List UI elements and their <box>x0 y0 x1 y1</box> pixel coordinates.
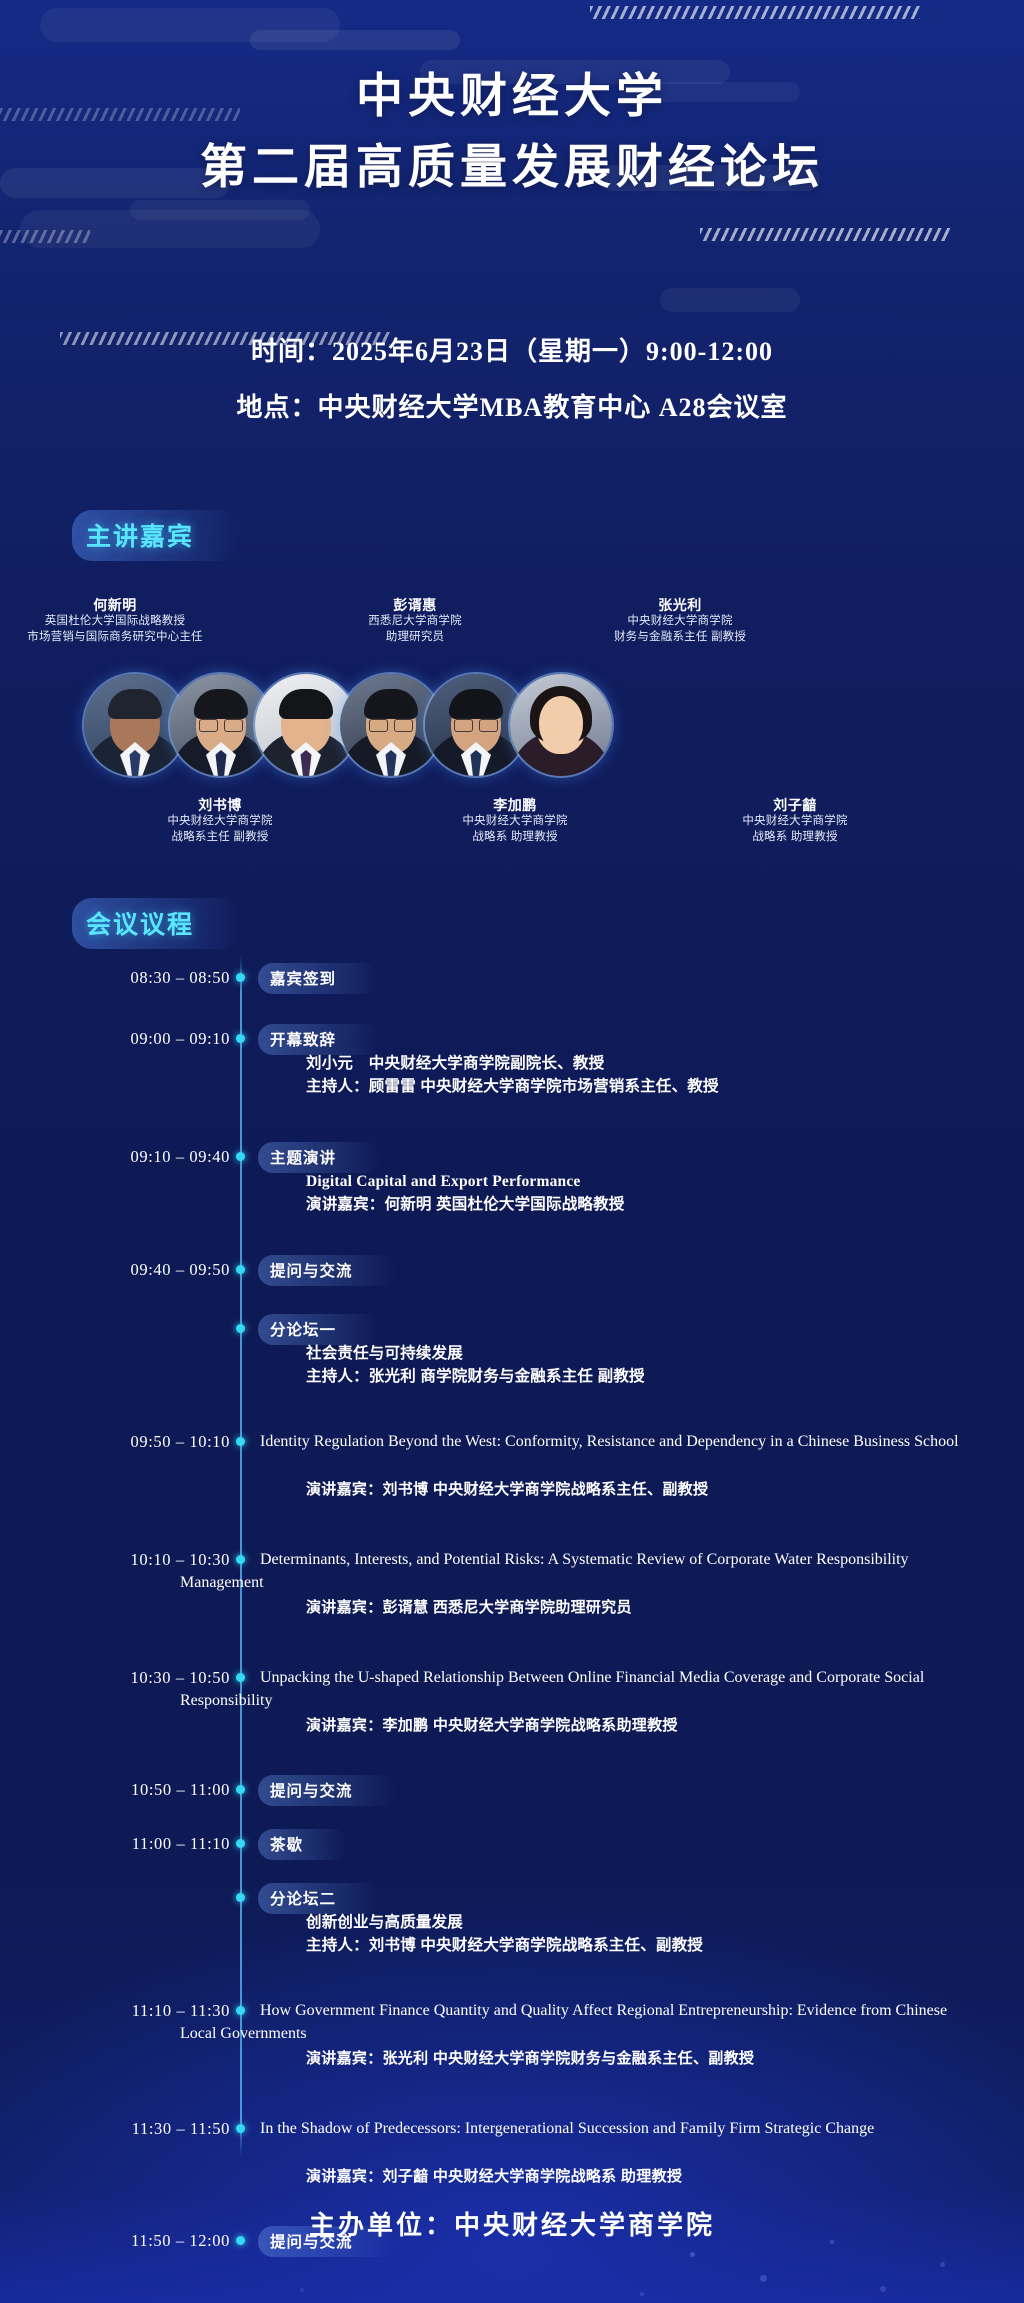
speaker-org: 西悉尼大学商学院 <box>290 614 540 629</box>
conference-poster: 中央财经大学 第二届高质量发展财经论坛 时间：2025年6月23日（星期一）9:… <box>0 0 1024 2303</box>
event-location: 地点：中央财经大学MBA教育中心 A28会议室 <box>0 394 1024 423</box>
deco-stripe <box>700 228 950 241</box>
agenda-detail-line: 主持人：张光利 商学院财务与金融系主任 副教授 <box>306 1365 958 1388</box>
agenda-pill: 分论坛一 <box>258 1314 380 1345</box>
agenda-detail: 社会责任与可持续发展 主持人：张光利 商学院财务与金融系主任 副教授 <box>258 1342 958 1389</box>
agenda-paper-speaker: 演讲嘉宾：刘子韽 中央财经大学商学院战略系 助理教授 <box>258 2165 978 2186</box>
speaker-org: 中央财经大学商学院 <box>670 814 920 829</box>
speaker-role: 战略系 助理教授 <box>390 830 640 845</box>
speaker-label-4: 刘书博 中央财经大学商学院 战略系主任 副教授 <box>95 796 345 845</box>
agenda-dot <box>236 973 245 982</box>
agenda-paper-speaker: 演讲嘉宾：李加鹏 中央财经大学商学院战略系助理教授 <box>258 1714 978 1735</box>
speaker-role: 市场营销与国际商务研究中心主任 <box>0 630 240 645</box>
agenda-paper-title: In the Shadow of Predecessors: Intergene… <box>180 2117 960 2140</box>
agenda-detail-line: 刘小元 中央财经大学商学院副院长、教授 <box>306 1052 958 1075</box>
agenda-paper-title: How Government Finance Quantity and Qual… <box>180 1999 960 2045</box>
agenda-pill: 提问与交流 <box>258 1775 397 1806</box>
agenda-pill: 主题演讲 <box>258 1142 380 1173</box>
agenda-detail: 创新创业与高质量发展 主持人：刘书博 中央财经大学商学院战略系主任、副教授 <box>258 1911 958 1958</box>
agenda-detail-line: 演讲嘉宾：何新明 英国杜伦大学国际战略教授 <box>306 1193 958 1216</box>
event-meta: 时间：2025年6月23日（星期一）9:00-12:00 地点：中央财经大学MB… <box>0 338 1024 422</box>
agenda-paper-speaker: 演讲嘉宾：张光利 中央财经大学商学院财务与金融系主任、副教授 <box>258 2047 978 2068</box>
speaker-label-5: 李加鹏 中央财经大学商学院 战略系 助理教授 <box>390 796 640 845</box>
speaker-org: 中央财经大学商学院 <box>390 814 640 829</box>
agenda-dot <box>236 1034 245 1043</box>
agenda-time: 11:00 – 11:10 <box>60 1834 230 1854</box>
deco-stripe <box>0 230 90 243</box>
section-heading-agenda-label: 会议议程 <box>86 911 194 939</box>
agenda-time: 09:00 – 09:10 <box>60 1029 230 1049</box>
agenda-paper-title: Determinants, Interests, and Potential R… <box>180 1548 960 1594</box>
agenda-detail: Digital Capital and Export Performance 演… <box>258 1170 958 1217</box>
speaker-name: 何新明 <box>0 596 240 614</box>
speaker-role: 财务与金融系主任 副教授 <box>555 630 805 645</box>
agenda-detail-line: 主持人：刘书博 中央财经大学商学院战略系主任、副教授 <box>306 1934 958 1957</box>
agenda-time: 08:30 – 08:50 <box>60 968 230 988</box>
speaker-name: 彭谞惠 <box>290 596 540 614</box>
speaker-org: 中央财经大学商学院 <box>95 814 345 829</box>
event-time: 时间：2025年6月23日（星期一）9:00-12:00 <box>0 338 1024 367</box>
speaker-role: 战略系 助理教授 <box>670 830 920 845</box>
agenda-paper-title: Unpacking the U-shaped Relationship Betw… <box>180 1666 960 1712</box>
speakers-section: 何新明 英国杜伦大学国际战略教授 市场营销与国际商务研究中心主任 彭谞惠 西悉尼… <box>0 596 1024 896</box>
speaker-label-6: 刘子韽 中央财经大学商学院 战略系 助理教授 <box>670 796 920 845</box>
agenda-dot <box>236 1324 245 1333</box>
agenda-detail-line: 社会责任与可持续发展 <box>306 1342 958 1365</box>
deco-pill <box>660 288 800 312</box>
section-heading-speakers: 主讲嘉宾 <box>72 510 240 561</box>
agenda-dot <box>236 1265 245 1274</box>
agenda-time: 09:10 – 09:40 <box>60 1147 230 1167</box>
glasses-icon <box>454 718 498 729</box>
speaker-name: 刘子韽 <box>670 796 920 814</box>
speaker-role: 战略系主任 副教授 <box>95 830 345 845</box>
agenda-dot <box>236 1893 245 1902</box>
speaker-name: 刘书博 <box>95 796 345 814</box>
agenda-pill: 开幕致辞 <box>258 1024 380 1055</box>
agenda-dot <box>236 1839 245 1848</box>
agenda-paper-title: Identity Regulation Beyond the West: Con… <box>180 1430 960 1453</box>
speaker-name: 李加鹏 <box>390 796 640 814</box>
agenda-detail-line: 主持人：顾雷雷 中央财经大学商学院市场营销系主任、教授 <box>306 1075 958 1098</box>
agenda-pill: 茶歇 <box>258 1829 347 1860</box>
speaker-role: 助理研究员 <box>290 630 540 645</box>
agenda-pill: 嘉宾签到 <box>258 963 380 994</box>
agenda-detail-line: 创新创业与高质量发展 <box>306 1911 958 1934</box>
deco-pill <box>250 30 460 50</box>
agenda-paper-speaker: 演讲嘉宾：刘书博 中央财经大学商学院战略系主任、副教授 <box>258 1478 978 1499</box>
agenda-detail-line: Digital Capital and Export Performance <box>306 1170 958 1193</box>
glasses-icon <box>369 718 413 729</box>
title-line-1: 中央财经大学 <box>0 68 1024 127</box>
section-heading-speakers-label: 主讲嘉宾 <box>86 523 194 551</box>
deco-pill <box>40 8 340 42</box>
deco-stripe <box>590 6 920 19</box>
speaker-name: 张光利 <box>555 596 805 614</box>
poster-footer: 主办单位：中央财经大学商学院 <box>0 2205 1024 2242</box>
agenda-time: 10:50 – 11:00 <box>60 1780 230 1800</box>
section-heading-agenda: 会议议程 <box>72 898 240 949</box>
poster-title: 中央财经大学 第二届高质量发展财经论坛 <box>0 68 1024 198</box>
organizer-label: 主办单位：中央财经大学商学院 <box>309 2210 715 2240</box>
agenda-paper-speaker: 演讲嘉宾：彭谞慧 西悉尼大学商学院助理研究员 <box>258 1596 978 1617</box>
agenda-time: 09:40 – 09:50 <box>60 1260 230 1280</box>
glasses-icon <box>199 718 243 729</box>
agenda-detail: 刘小元 中央财经大学商学院副院长、教授 主持人：顾雷雷 中央财经大学商学院市场营… <box>258 1052 958 1099</box>
speaker-label-1: 何新明 英国杜伦大学国际战略教授 市场营销与国际商务研究中心主任 <box>0 596 240 645</box>
agenda-dot <box>236 1152 245 1161</box>
agenda-pill: 提问与交流 <box>258 1255 397 1286</box>
speaker-org: 中央财经大学商学院 <box>555 614 805 629</box>
agenda-pill: 分论坛二 <box>258 1883 380 1914</box>
title-line-2: 第二届高质量发展财经论坛 <box>0 139 1024 198</box>
speaker-org: 英国杜伦大学国际战略教授 <box>0 614 240 629</box>
speaker-avatar-6 <box>508 672 614 778</box>
speaker-label-2: 彭谞惠 西悉尼大学商学院 助理研究员 <box>290 596 540 645</box>
deco-pill <box>130 200 310 220</box>
speaker-label-3: 张光利 中央财经大学商学院 财务与金融系主任 副教授 <box>555 596 805 645</box>
agenda-dot <box>236 1785 245 1794</box>
